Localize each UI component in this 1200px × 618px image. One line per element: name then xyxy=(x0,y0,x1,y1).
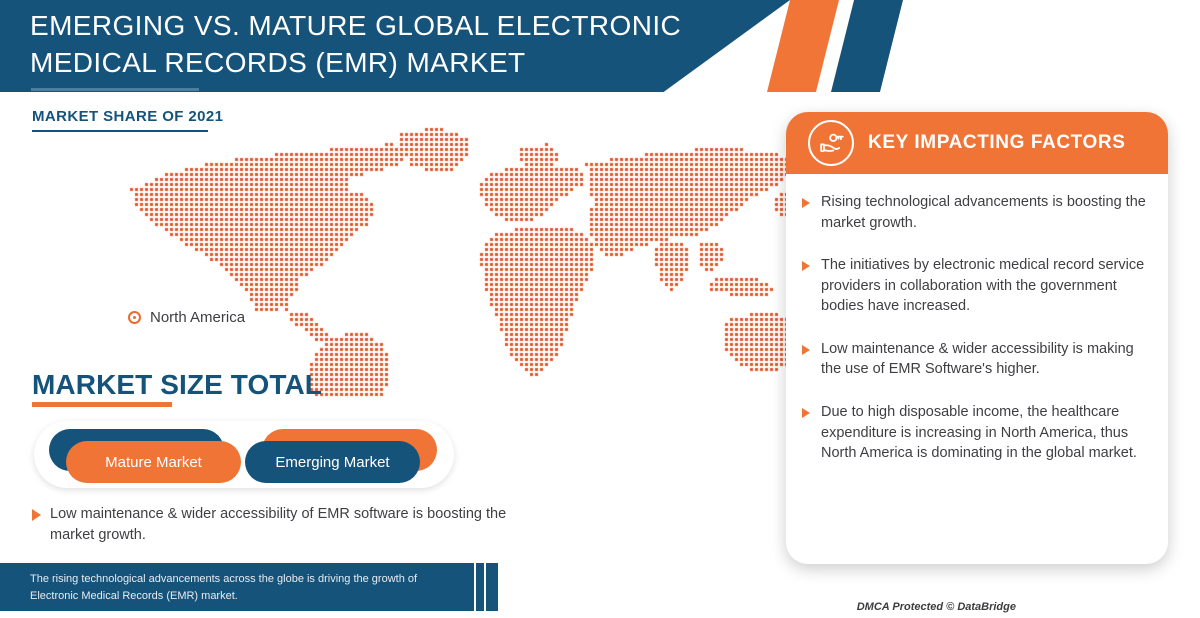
factor-item: Rising technological advancements is boo… xyxy=(802,192,1148,233)
world-map-canvas xyxy=(100,118,800,398)
factor-text: The initiatives by electronic medical re… xyxy=(821,255,1148,317)
hand-holding-key-icon xyxy=(808,120,854,166)
market-size-heading: MARKET SIZE TOTAL xyxy=(32,369,322,401)
factor-text: Due to high disposable income, the healt… xyxy=(821,402,1148,464)
footer-note: The rising technological advancements ac… xyxy=(30,571,460,604)
left-bullet-item: Low maintenance & wider accessibility of… xyxy=(32,504,522,546)
market-type-toggle-group: Mature Market Emerging Market xyxy=(34,421,454,488)
triangle-bullet-icon xyxy=(802,345,810,355)
triangle-bullet-icon xyxy=(802,198,810,208)
map-legend-north-america: North America xyxy=(128,309,245,326)
triangle-bullet-icon xyxy=(802,261,810,271)
infographic-root: EMERGING VS. MATURE GLOBAL ELECTRONIC ME… xyxy=(0,0,1200,618)
map-legend-label: North America xyxy=(150,309,245,326)
factor-item: The initiatives by electronic medical re… xyxy=(802,255,1148,317)
factor-text: Rising technological advancements is boo… xyxy=(821,192,1148,233)
title-underline xyxy=(31,88,199,91)
mature-market-button[interactable]: Mature Market xyxy=(66,441,241,483)
world-map xyxy=(100,118,800,398)
key-impacting-factors-panel: KEY IMPACTING FACTORS Rising technologic… xyxy=(786,112,1168,564)
footer-separator-1 xyxy=(474,563,476,611)
header-stripe-blue xyxy=(831,0,903,92)
circle-ring-marker-icon xyxy=(128,311,141,324)
footer-separator-2 xyxy=(484,563,486,611)
factor-item: Due to high disposable income, the healt… xyxy=(802,402,1148,464)
panel-title: KEY IMPACTING FACTORS xyxy=(868,132,1126,154)
page-title: EMERGING VS. MATURE GLOBAL ELECTRONIC ME… xyxy=(30,8,730,82)
market-size-underline xyxy=(32,402,172,407)
triangle-bullet-icon xyxy=(32,509,41,521)
panel-factor-list: Rising technological advancements is boo… xyxy=(786,174,1168,486)
header-stripe-orange xyxy=(767,0,839,92)
header: EMERGING VS. MATURE GLOBAL ELECTRONIC ME… xyxy=(0,0,1200,92)
panel-header: KEY IMPACTING FACTORS xyxy=(786,112,1168,174)
dmca-credit: DMCA Protected © DataBridge xyxy=(857,601,1016,613)
factor-item: Low maintenance & wider accessibility is… xyxy=(802,339,1148,380)
emerging-market-button[interactable]: Emerging Market xyxy=(245,441,420,483)
factor-text: Low maintenance & wider accessibility is… xyxy=(821,339,1148,380)
left-bullet-text: Low maintenance & wider accessibility of… xyxy=(50,504,522,546)
triangle-bullet-icon xyxy=(802,408,810,418)
